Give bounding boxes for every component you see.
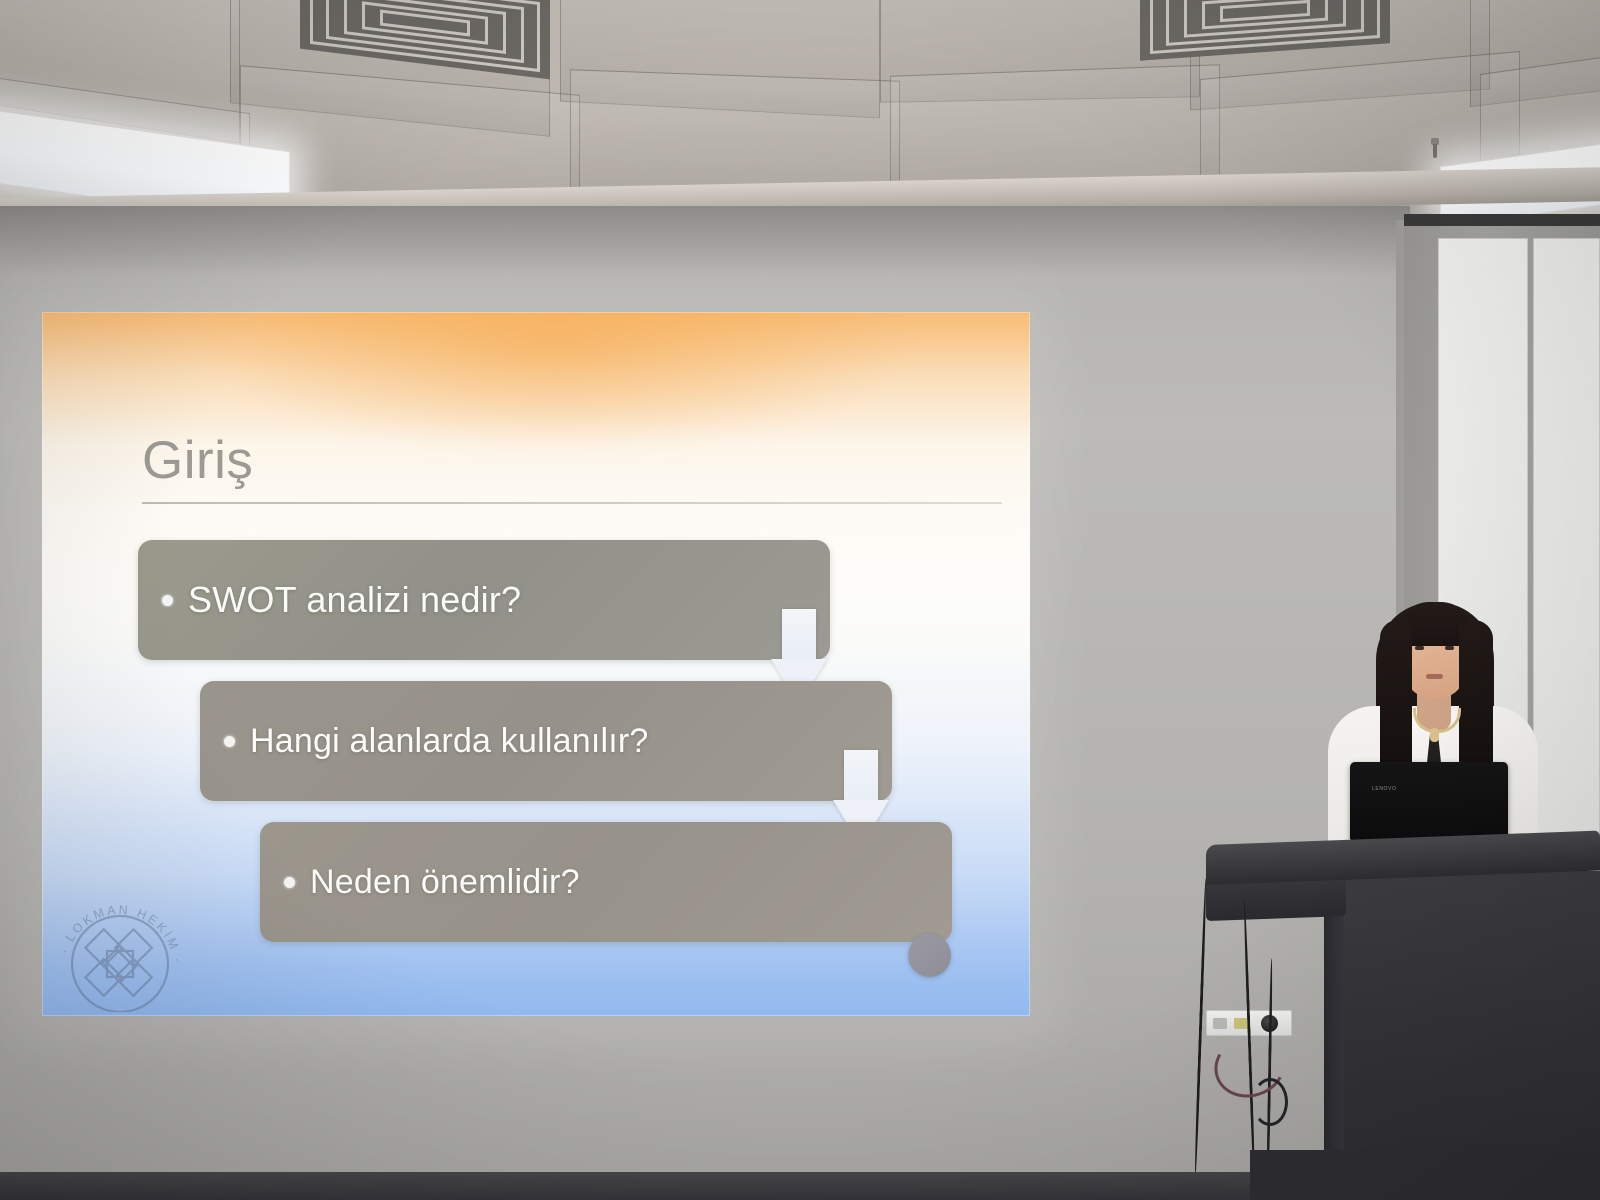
- bullet-text: SWOT analizi nedir?: [188, 579, 521, 621]
- decorative-dot: [908, 934, 951, 977]
- bullet-marker-icon: [284, 877, 295, 888]
- wall-shadow: [0, 206, 1410, 276]
- eye-right: [1445, 646, 1454, 650]
- conference-room-photo: Giriş SWOT analizi nedir? Hangi alanlard…: [0, 0, 1600, 1200]
- bullet-marker-icon: [224, 736, 235, 747]
- bullet-box-1: SWOT analizi nedir?: [138, 540, 830, 660]
- data-port-icon: [1213, 1018, 1227, 1029]
- sprinkler-head: [1428, 138, 1442, 160]
- bullet-marker-icon: [162, 595, 173, 606]
- data-port-icon: [1234, 1018, 1248, 1029]
- bullet-box-3: Neden önemlidir?: [260, 822, 952, 942]
- bullet-box-2: Hangi alanlarda kullanılır?: [200, 681, 892, 801]
- laptop[interactable]: LENOVO: [1350, 762, 1508, 840]
- bullet-flow-diagram: SWOT analizi nedir? Hangi alanlarda kull…: [42, 312, 1030, 1016]
- presentation-slide: Giriş SWOT analizi nedir? Hangi alanlard…: [42, 312, 1030, 1016]
- cable-loop: [1252, 1078, 1288, 1126]
- mouth: [1426, 674, 1443, 679]
- bullet-text: Neden önemlidir?: [310, 863, 580, 902]
- bullet-text: Hangi alanlarda kullanılır?: [250, 722, 649, 761]
- baseboard: [0, 1172, 1250, 1200]
- eye-left: [1415, 646, 1424, 650]
- pendant: [1430, 728, 1439, 742]
- wall-top-trim: [1404, 214, 1600, 226]
- projection-screen: Giriş SWOT analizi nedir? Hangi alanlard…: [42, 312, 1030, 1016]
- laptop-brand-label: LENOVO: [1372, 786, 1396, 792]
- lokman-hekim-logo: · LOKMAN HEKİM ·: [50, 902, 190, 1012]
- floor: [1250, 1150, 1600, 1200]
- svg-text:· LOKMAN HEKİM ·: · LOKMAN HEKİM ·: [57, 903, 185, 966]
